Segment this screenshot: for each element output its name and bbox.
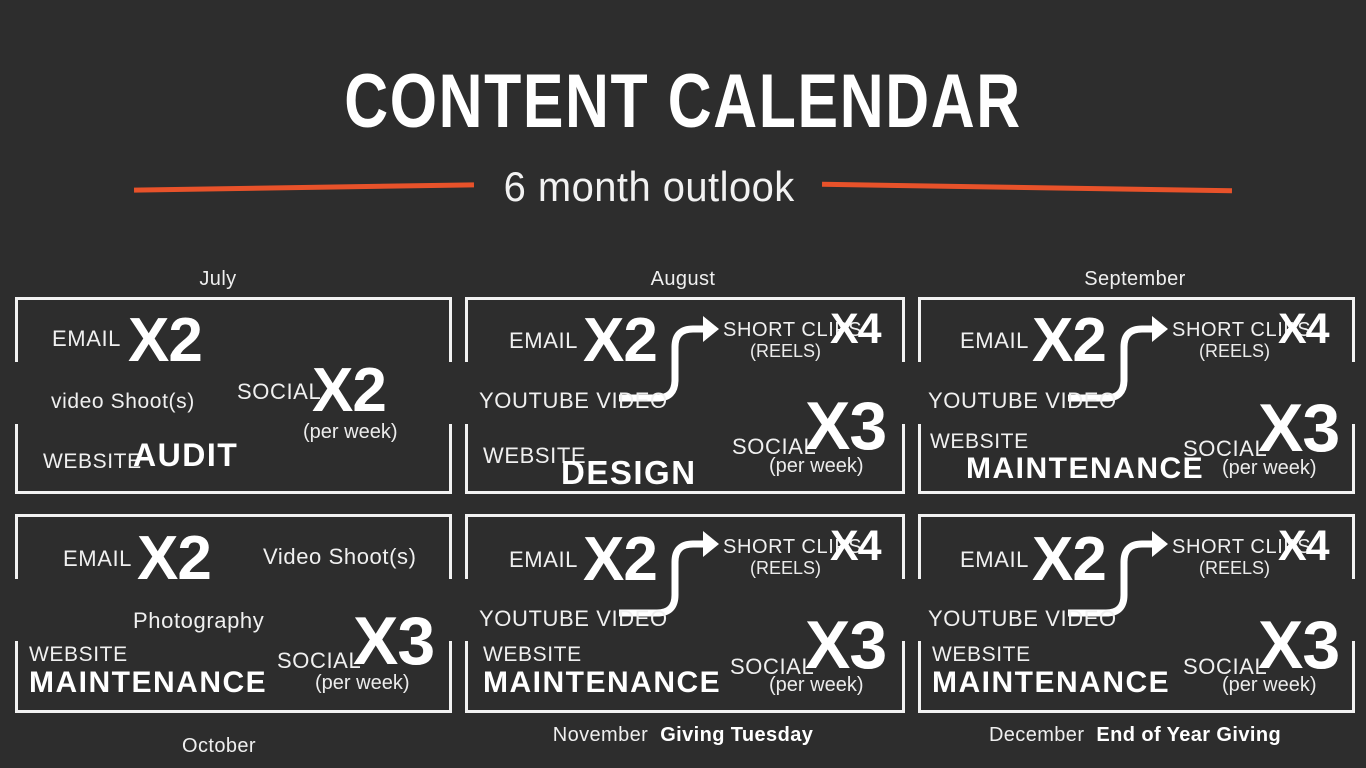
- social-note: (per week): [1222, 674, 1316, 697]
- email-label: EMAIL: [52, 326, 121, 352]
- social-note: (per week): [769, 455, 863, 478]
- social-note: (per week): [303, 421, 397, 444]
- card-content: EMAIL X2 SHORT CLIPS X4 (REELS) YOUTUBE …: [918, 297, 1355, 494]
- month-card-november[interactable]: EMAIL X2 SHORT CLIPS X4 (REELS) YOUTUBE …: [465, 514, 905, 713]
- page-subtitle: 6 month outlook: [503, 163, 794, 211]
- youtube-label: YOUTUBE VIDEO: [479, 606, 668, 632]
- card-content: EMAIL X2 SHORT CLIPS X4 (REELS) YOUTUBE …: [465, 514, 905, 713]
- website-value: DESIGN: [561, 454, 697, 492]
- month-label-december: DecemberEnd of Year Giving: [915, 724, 1355, 747]
- flow-arrow-icon: [617, 520, 727, 620]
- subtitle-row: 6 month outlook: [0, 163, 1366, 211]
- card-content: EMAIL X2 SHORT CLIPS X4 (REELS) YOUTUBE …: [465, 297, 905, 494]
- month-label-october: October: [0, 735, 438, 758]
- short-clips-note: (REELS): [750, 558, 821, 579]
- social-count: X3: [353, 602, 434, 680]
- month-label-august: August: [463, 268, 903, 291]
- accent-rule-right: [822, 181, 1232, 192]
- youtube-label: YOUTUBE VIDEO: [479, 388, 668, 414]
- email-label: EMAIL: [960, 328, 1029, 354]
- page-title: CONTENT CALENDAR: [137, 58, 1230, 145]
- short-clips-note: (REELS): [1199, 341, 1270, 362]
- social-count: X3: [805, 606, 886, 684]
- accent-rule-left: [134, 182, 474, 192]
- month-name-december: December: [989, 724, 1084, 746]
- social-note: (per week): [769, 674, 863, 697]
- short-clips-count: X4: [1278, 522, 1329, 571]
- card-content: EMAIL X2 Video Shoot(s) Photography WEBS…: [15, 514, 452, 713]
- email-count: X2: [137, 523, 211, 594]
- email-count: X2: [128, 305, 202, 376]
- month-card-september[interactable]: EMAIL X2 SHORT CLIPS X4 (REELS) YOUTUBE …: [918, 297, 1355, 494]
- short-clips-count: X4: [1278, 305, 1329, 354]
- youtube-label: YOUTUBE VIDEO: [928, 606, 1117, 632]
- website-value: MAINTENANCE: [932, 666, 1170, 700]
- month-card-august[interactable]: EMAIL X2 SHORT CLIPS X4 (REELS) YOUTUBE …: [465, 297, 905, 494]
- card-content: EMAIL X2 SHORT CLIPS X4 (REELS) YOUTUBE …: [918, 514, 1355, 713]
- website-value: AUDIT: [133, 437, 238, 474]
- social-note: (per week): [1222, 457, 1316, 480]
- short-clips-count: X4: [830, 522, 881, 571]
- campaign-giving-tuesday: Giving Tuesday: [660, 724, 813, 746]
- short-clips-count: X4: [830, 305, 881, 354]
- photography-label: Photography: [133, 608, 264, 634]
- month-label-september: September: [915, 268, 1355, 291]
- social-count: X3: [1258, 606, 1339, 684]
- month-card-july[interactable]: EMAIL X2 video Shoot(s) SOCIAL X2 (per w…: [15, 297, 452, 494]
- short-clips-note: (REELS): [1199, 558, 1270, 579]
- month-name-november: November: [553, 724, 648, 746]
- video-shoots-label: video Shoot(s): [51, 390, 195, 414]
- website-label: WEBSITE: [932, 643, 1031, 667]
- social-count: X3: [805, 387, 886, 465]
- social-note: (per week): [315, 672, 409, 695]
- flow-arrow-icon: [1066, 520, 1176, 620]
- website-value: MAINTENANCE: [29, 666, 267, 700]
- social-label: SOCIAL: [277, 648, 361, 674]
- website-value: MAINTENANCE: [966, 452, 1204, 486]
- website-label: WEBSITE: [29, 643, 128, 667]
- website-label: WEBSITE: [483, 643, 582, 667]
- email-label: EMAIL: [63, 546, 132, 572]
- social-count: X3: [1258, 389, 1339, 467]
- email-label: EMAIL: [960, 547, 1029, 573]
- month-label-november: NovemberGiving Tuesday: [463, 724, 903, 747]
- website-label: WEBSITE: [43, 450, 142, 474]
- card-content: EMAIL X2 video Shoot(s) SOCIAL X2 (per w…: [15, 297, 452, 494]
- youtube-label: YOUTUBE VIDEO: [928, 388, 1117, 414]
- website-label: WEBSITE: [930, 430, 1029, 454]
- website-value: MAINTENANCE: [483, 666, 721, 700]
- email-label: EMAIL: [509, 547, 578, 573]
- short-clips-note: (REELS): [750, 341, 821, 362]
- social-count: X2: [312, 355, 386, 426]
- campaign-end-of-year-giving: End of Year Giving: [1096, 724, 1281, 746]
- content-calendar-slide: CONTENT CALENDAR 6 month outlook July Au…: [0, 0, 1366, 768]
- social-label: SOCIAL: [237, 379, 321, 405]
- month-label-july: July: [0, 268, 436, 291]
- email-label: EMAIL: [509, 328, 578, 354]
- month-card-october[interactable]: EMAIL X2 Video Shoot(s) Photography WEBS…: [15, 514, 452, 713]
- month-card-december[interactable]: EMAIL X2 SHORT CLIPS X4 (REELS) YOUTUBE …: [918, 514, 1355, 713]
- video-shoots-label: Video Shoot(s): [263, 544, 417, 570]
